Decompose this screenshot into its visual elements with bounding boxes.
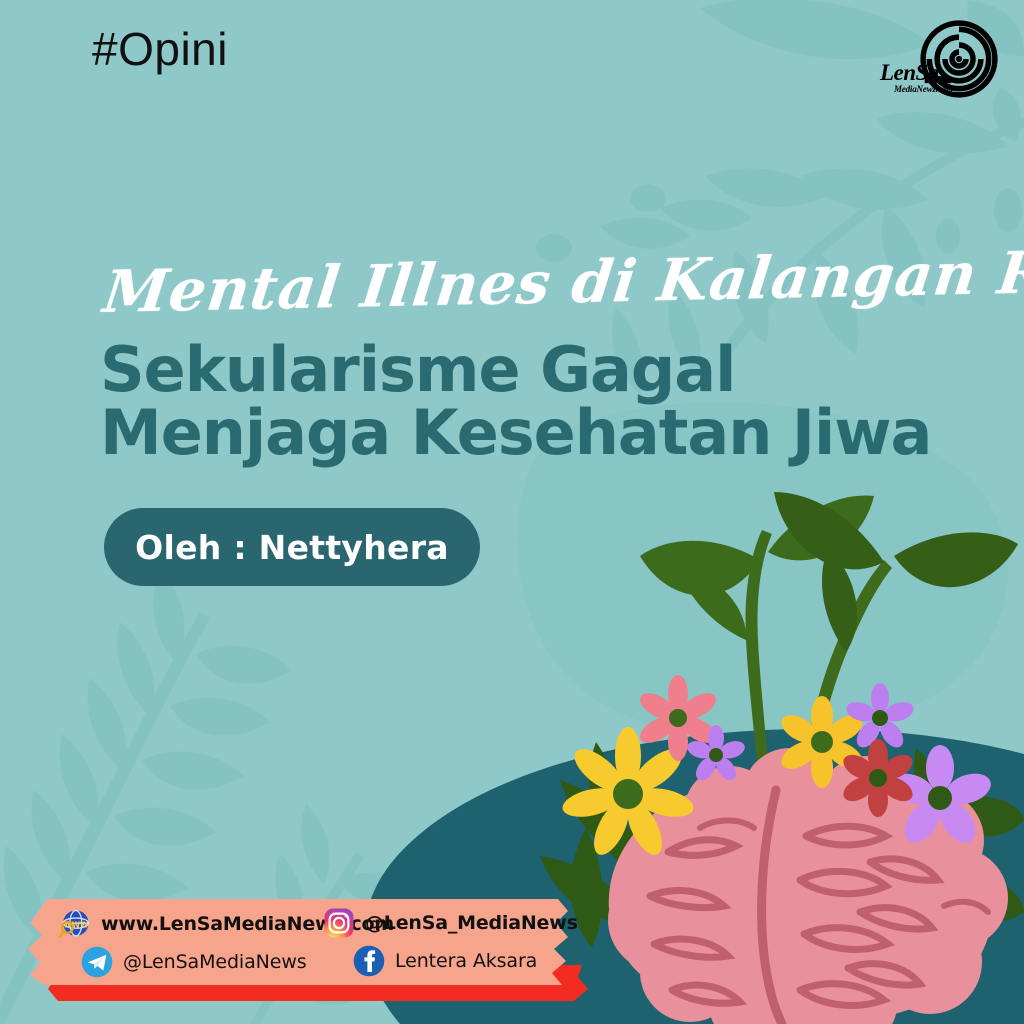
- social-row-facebook[interactable]: Lentera Aksara: [352, 944, 537, 978]
- telegram-text: @LenSaMediaNews: [123, 951, 307, 973]
- instagram-icon: [322, 906, 356, 940]
- poster-canvas: #Opini LenSa MediaNewz.com Mental Illnes…: [0, 0, 1024, 1024]
- author-badge: Oleh : Nettyhera: [104, 508, 480, 586]
- logo-wordmark: LenSa: [880, 60, 939, 86]
- instagram-text: @LenSa_MediaNews: [365, 912, 578, 934]
- facebook-text: Lentera Aksara: [395, 950, 537, 972]
- social-row-instagram[interactable]: @LenSa_MediaNews: [322, 906, 578, 940]
- page-title: Sekularisme Gagal Menjaga Kesehatan Jiwa: [100, 338, 931, 464]
- facebook-icon: [352, 944, 386, 978]
- globe-www-icon: WWW: [58, 907, 92, 941]
- social-row-telegram[interactable]: @LenSaMediaNews: [80, 945, 307, 979]
- hashtag-label: #Opini: [92, 26, 228, 72]
- title-line-2: Menjaga Kesehatan Jiwa: [100, 401, 931, 464]
- telegram-icon: [80, 945, 114, 979]
- author-label: Oleh : Nettyhera: [135, 528, 449, 567]
- brand-logo[interactable]: LenSa MediaNewz.com: [880, 20, 1000, 112]
- logo-subtitle: MediaNewz.com: [894, 84, 953, 94]
- social-footer-ribbon: WWW www.LenSaMediaNews.com @LenSaMediaNe…: [22, 893, 642, 1005]
- social-rows: WWW www.LenSaMediaNews.com @LenSaMediaNe…: [22, 893, 642, 989]
- title-line-1: Sekularisme Gagal: [100, 338, 931, 401]
